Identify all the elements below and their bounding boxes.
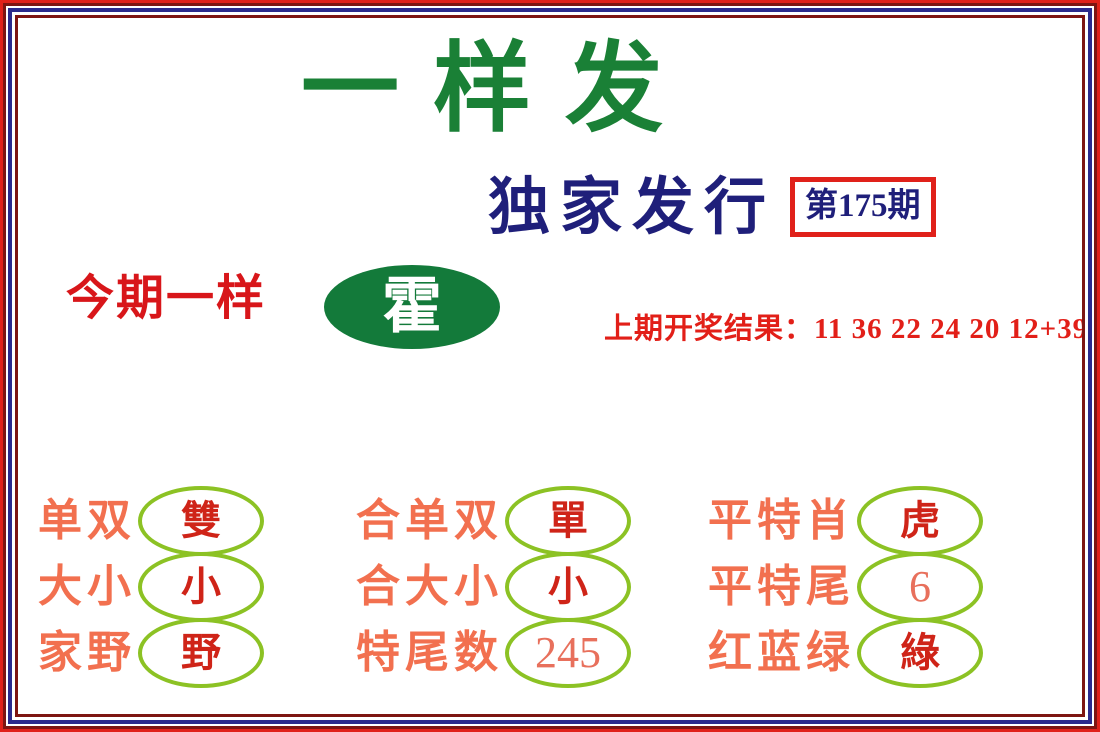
prediction-label: 平特尾 <box>708 565 855 609</box>
prediction-value: 雙 <box>181 501 221 541</box>
prediction-value-oval: 野 <box>138 618 264 688</box>
poster-canvas: 一样发 独家发行 第175期 今期一样 霍 上期开奖结果：11 36 22 24… <box>18 18 1082 714</box>
page-title: 一样发 <box>301 40 697 138</box>
prediction-value-oval: 小 <box>138 552 264 622</box>
prediction-grid: 单双 雙 大小 小 家野 野 合单双 <box>18 458 1082 688</box>
tip-label: 今期一样 <box>66 274 266 322</box>
prediction-label: 大小 <box>38 565 136 609</box>
prediction-row: 平特尾 6 <box>708 554 1058 620</box>
prediction-label: 平特肖 <box>708 499 855 543</box>
tip-value-text: 霍 <box>382 277 442 337</box>
prediction-column-1: 单双 雙 大小 小 家野 野 <box>38 458 388 688</box>
prediction-row: 单双 雙 <box>38 488 388 554</box>
prediction-value-oval: 雙 <box>138 486 264 556</box>
prediction-row: 平特肖 虎 <box>708 488 1058 554</box>
prediction-label: 家野 <box>38 631 136 675</box>
prediction-value: 綠 <box>900 633 940 673</box>
prediction-column-3: 平特肖 虎 平特尾 6 红蓝绿 綠 <box>708 458 1058 688</box>
prediction-row: 合单双 單 <box>356 488 706 554</box>
prediction-value-oval: 小 <box>505 552 631 622</box>
subtitle-text: 独家发行 <box>488 176 776 238</box>
prediction-value: 虎 <box>900 501 940 541</box>
prediction-value-oval: 6 <box>857 552 983 622</box>
prediction-column-2: 合单双 單 合大小 小 特尾数 245 <box>356 458 706 688</box>
issue-badge: 第175期 <box>790 177 936 237</box>
prediction-label: 合大小 <box>356 565 503 609</box>
prediction-row: 大小 小 <box>38 554 388 620</box>
prediction-row: 合大小 小 <box>356 554 706 620</box>
prediction-value-oval: 綠 <box>857 618 983 688</box>
prediction-label: 红蓝绿 <box>708 631 855 675</box>
prediction-value: 6 <box>909 565 931 609</box>
prediction-value: 小 <box>548 567 588 607</box>
prediction-value-oval: 單 <box>505 486 631 556</box>
prediction-value-oval: 虎 <box>857 486 983 556</box>
tip-value-oval: 霍 <box>324 265 500 349</box>
prediction-value-oval: 245 <box>505 618 631 688</box>
prediction-label: 合单双 <box>356 499 503 543</box>
prediction-row: 特尾数 245 <box>356 620 706 686</box>
issue-number-label: 第175期 <box>805 190 921 223</box>
subtitle-row: 独家发行 第175期 <box>488 176 936 238</box>
prediction-value: 245 <box>535 631 601 675</box>
prediction-row: 红蓝绿 綠 <box>708 620 1058 686</box>
prediction-label: 单双 <box>38 499 136 543</box>
prediction-value: 野 <box>181 633 221 673</box>
prediction-label: 特尾数 <box>356 631 503 675</box>
last-draw-result: 上期开奖结果：11 36 22 24 20 12+39 <box>604 315 1082 344</box>
prediction-value: 單 <box>548 501 588 541</box>
prediction-row: 家野 野 <box>38 620 388 686</box>
prediction-value: 小 <box>181 567 221 607</box>
